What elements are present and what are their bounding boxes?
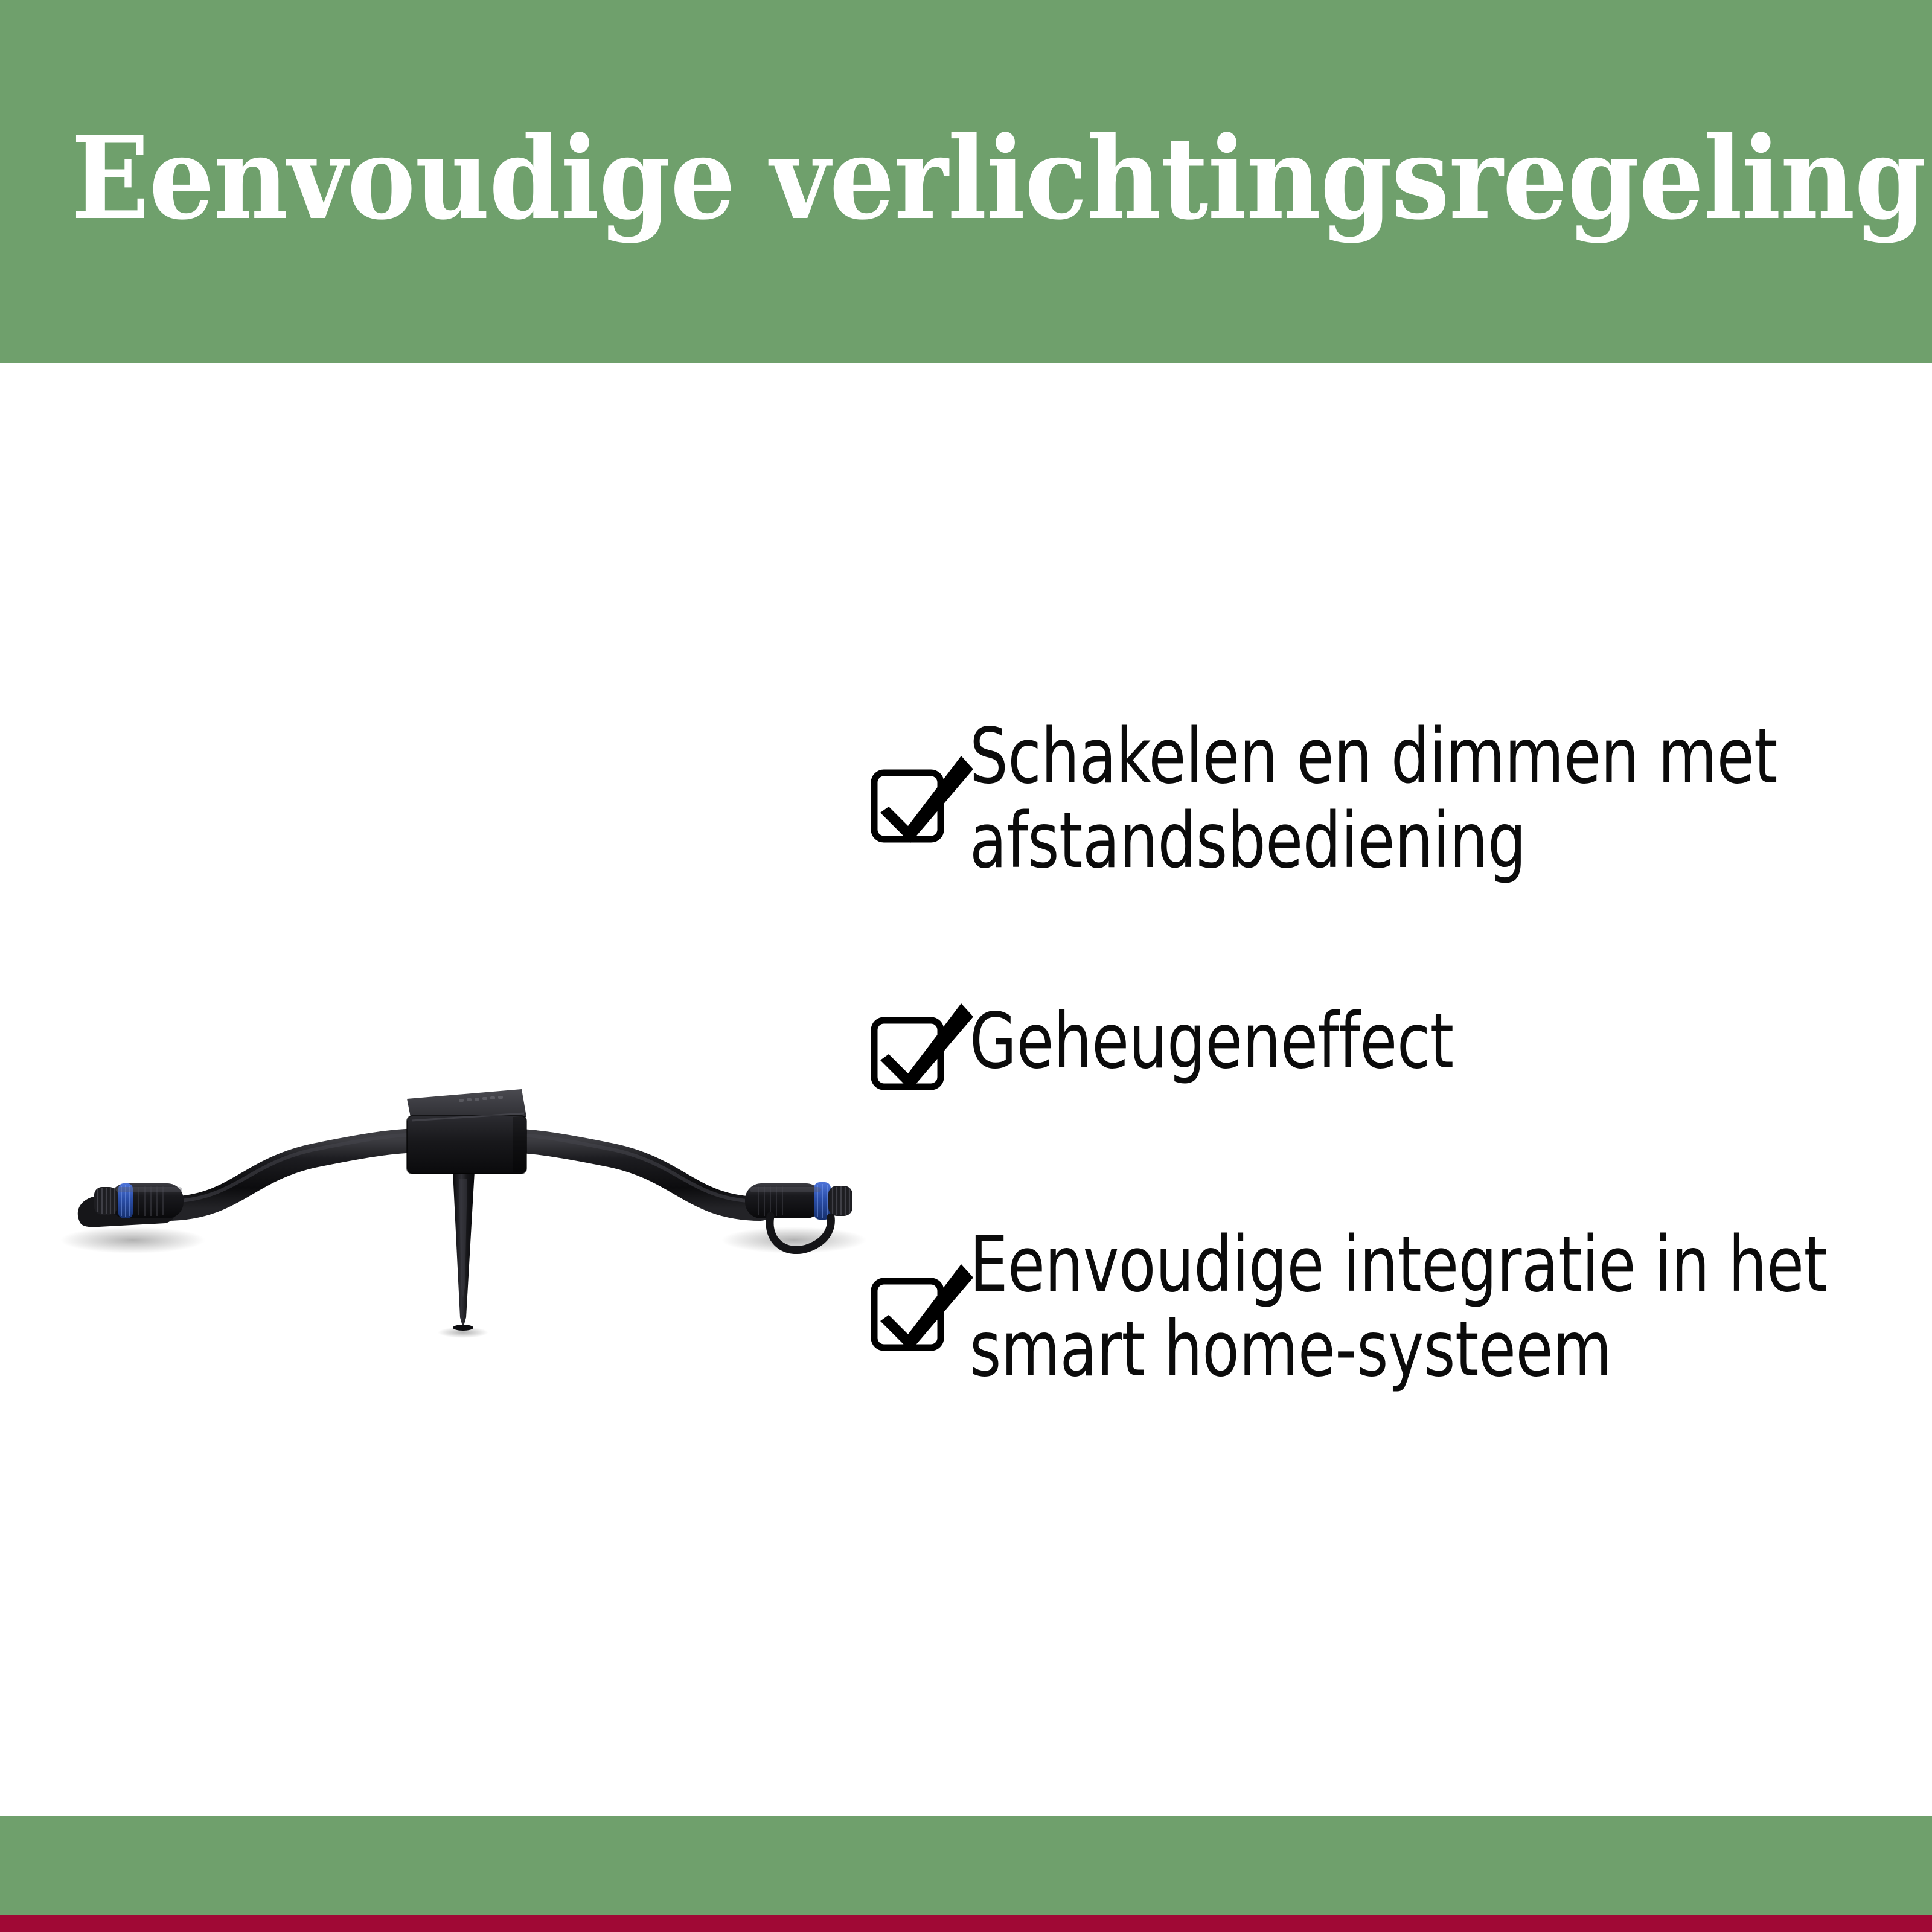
checkbox-checked-icon — [869, 1255, 976, 1361]
feature-list: Schakelen en dimmen met afstandsbedienin… — [869, 714, 1872, 1391]
feature-item-smart-home: Eenvoudige integratie in het smart home-… — [869, 1222, 1872, 1391]
checkbox-checked-icon — [869, 994, 976, 1100]
checkbox-checked-icon — [869, 746, 976, 852]
feature-item-memory-effect: Geheugeneffect — [869, 989, 1872, 1116]
feature-item-remote-control: Schakelen en dimmen met afstandsbedienin… — [869, 714, 1872, 883]
accent-band — [0, 1915, 1932, 1932]
promo-banner: Eenvoudige verlichtingsregeling — [0, 0, 1932, 1932]
main-content: Schakelen en dimmen met afstandsbedienin… — [0, 363, 1932, 1816]
product-image — [36, 1028, 881, 1366]
footer-band — [0, 1816, 1932, 1915]
feature-label: Eenvoudige integratie in het smart home-… — [970, 1222, 1873, 1391]
page-title: Eenvoudige verlichtingsregeling — [71, 118, 1689, 239]
feature-label: Schakelen en dimmen met afstandsbedienin… — [970, 714, 1873, 883]
feature-label: Geheugeneffect — [970, 989, 1873, 1083]
header-band: Eenvoudige verlichtingsregeling — [0, 0, 1932, 363]
